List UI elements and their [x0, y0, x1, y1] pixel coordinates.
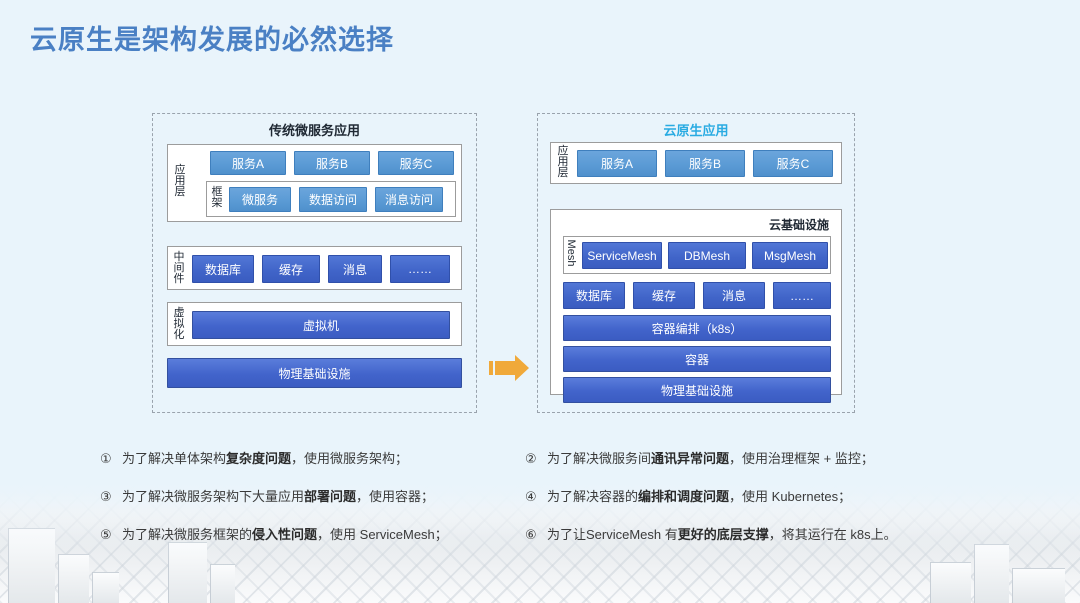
bullet-number: ② — [525, 451, 547, 467]
right-panel-title: 云原生应用 — [538, 120, 854, 139]
bullet-text: 为了解决单体架构复杂度问题，使用微服务架构； — [122, 448, 408, 467]
left-framework-group: 框架 微服务 数据访问 消息访问 — [206, 181, 456, 217]
container-orchestration-bar[interactable]: 容器编排（k8s） — [563, 315, 831, 341]
left-service-b[interactable]: 服务B — [294, 151, 370, 175]
right-middleware-database[interactable]: 数据库 — [563, 282, 625, 309]
cloud-infrastructure-group: 云基础设施 Mesh ServiceMesh DBMesh MsgMesh 数据… — [550, 209, 842, 395]
mesh-label: Mesh — [565, 238, 577, 268]
architecture-diagram: 传统微服务应用 应用层 服务A 服务B 服务C 框架 微服务 数据访问 消息访问… — [0, 105, 1080, 425]
left-panel-title: 传统微服务应用 — [153, 120, 476, 139]
mesh-group: Mesh ServiceMesh DBMesh MsgMesh — [563, 236, 831, 274]
bullet-text: 为了解决容器的编排和调度问题，使用 Kubernetes； — [547, 486, 851, 505]
bullet-item: ③ 为了解决微服务架构下大量应用部署问题，使用容器； — [100, 486, 520, 505]
right-physical-infrastructure[interactable]: 物理基础设施 — [563, 377, 831, 403]
right-middleware-more[interactable]: …… — [773, 282, 831, 309]
left-middleware-group: 中间件 数据库 缓存 消息 …… — [167, 246, 462, 290]
bullet-column-left: ① 为了解决单体架构复杂度问题，使用微服务架构； ③ 为了解决微服务架构下大量应… — [100, 448, 520, 562]
bullet-item: ④ 为了解决容器的编排和调度问题，使用 Kubernetes； — [525, 486, 965, 505]
bullet-number: ① — [100, 451, 122, 467]
left-framework-data-access[interactable]: 数据访问 — [299, 187, 367, 212]
left-middleware-more[interactable]: …… — [390, 255, 450, 283]
left-app-layer-label: 应用层 — [173, 165, 187, 199]
bullet-number: ⑤ — [100, 527, 122, 543]
bullet-item: ⑤ 为了解决微服务框架的侵入性问题，使用 ServiceMesh； — [100, 524, 520, 543]
bullet-text: 为了让ServiceMesh 有更好的底层支撑，将其运行在 k8s上。 — [547, 524, 897, 543]
left-middleware-message[interactable]: 消息 — [328, 255, 382, 283]
page-title: 云原生是架构发展的必然选择 — [30, 18, 394, 57]
bullet-text: 为了解决微服务架构下大量应用部署问题，使用容器； — [122, 486, 434, 505]
db-mesh-box[interactable]: DBMesh — [668, 242, 746, 269]
left-framework-label: 框架 — [210, 187, 224, 209]
cloud-infra-label: 云基础设施 — [769, 216, 829, 233]
left-application-layer-group: 应用层 服务A 服务B 服务C 框架 微服务 数据访问 消息访问 — [167, 144, 462, 222]
right-service-a[interactable]: 服务A — [577, 150, 657, 177]
container-bar[interactable]: 容器 — [563, 346, 831, 372]
left-virtualization-label: 虚拟化 — [172, 308, 186, 342]
cloud-native-panel: 云原生应用 应用层 服务A 服务B 服务C 框架下沉 云基础设施 Mesh Se… — [537, 113, 855, 413]
right-middleware-message[interactable]: 消息 — [703, 282, 765, 309]
right-app-layer-label: 应用层 — [556, 146, 570, 180]
left-physical-infrastructure[interactable]: 物理基础设施 — [167, 358, 462, 388]
bullet-number: ③ — [100, 489, 122, 505]
bullet-text: 为了解决微服务框架的侵入性问题，使用 ServiceMesh； — [122, 524, 448, 543]
right-service-c[interactable]: 服务C — [753, 150, 833, 177]
bullet-number: ⑥ — [525, 527, 547, 543]
bullet-number: ④ — [525, 489, 547, 505]
left-service-c[interactable]: 服务C — [378, 151, 454, 175]
bullet-column-right: ② 为了解决微服务间通讯异常问题，使用治理框架 + 监控； ④ 为了解决容器的编… — [525, 448, 965, 562]
left-framework-msg-access[interactable]: 消息访问 — [375, 187, 443, 212]
left-virtual-machine[interactable]: 虚拟机 — [192, 311, 450, 339]
left-framework-microservice[interactable]: 微服务 — [229, 187, 291, 212]
left-middleware-database[interactable]: 数据库 — [192, 255, 254, 283]
left-virtualization-group: 虚拟化 虚拟机 — [167, 302, 462, 346]
right-service-b[interactable]: 服务B — [665, 150, 745, 177]
left-service-a[interactable]: 服务A — [210, 151, 286, 175]
right-application-layer-group: 应用层 服务A 服务B 服务C — [550, 142, 842, 184]
transition-arrow-icon — [487, 353, 531, 388]
right-middleware-cache[interactable]: 缓存 — [633, 282, 695, 309]
msg-mesh-box[interactable]: MsgMesh — [752, 242, 828, 269]
bullet-item: ② 为了解决微服务间通讯异常问题，使用治理框架 + 监控； — [525, 448, 965, 467]
bullet-item: ① 为了解决单体架构复杂度问题，使用微服务架构； — [100, 448, 520, 467]
service-mesh-box[interactable]: ServiceMesh — [582, 242, 662, 269]
left-middleware-cache[interactable]: 缓存 — [262, 255, 320, 283]
bullet-text: 为了解决微服务间通讯异常问题，使用治理框架 + 监控； — [547, 448, 874, 467]
bullet-item: ⑥ 为了让ServiceMesh 有更好的底层支撑，将其运行在 k8s上。 — [525, 524, 965, 543]
traditional-microservice-panel: 传统微服务应用 应用层 服务A 服务B 服务C 框架 微服务 数据访问 消息访问… — [152, 113, 477, 413]
left-middleware-label: 中间件 — [172, 252, 186, 286]
